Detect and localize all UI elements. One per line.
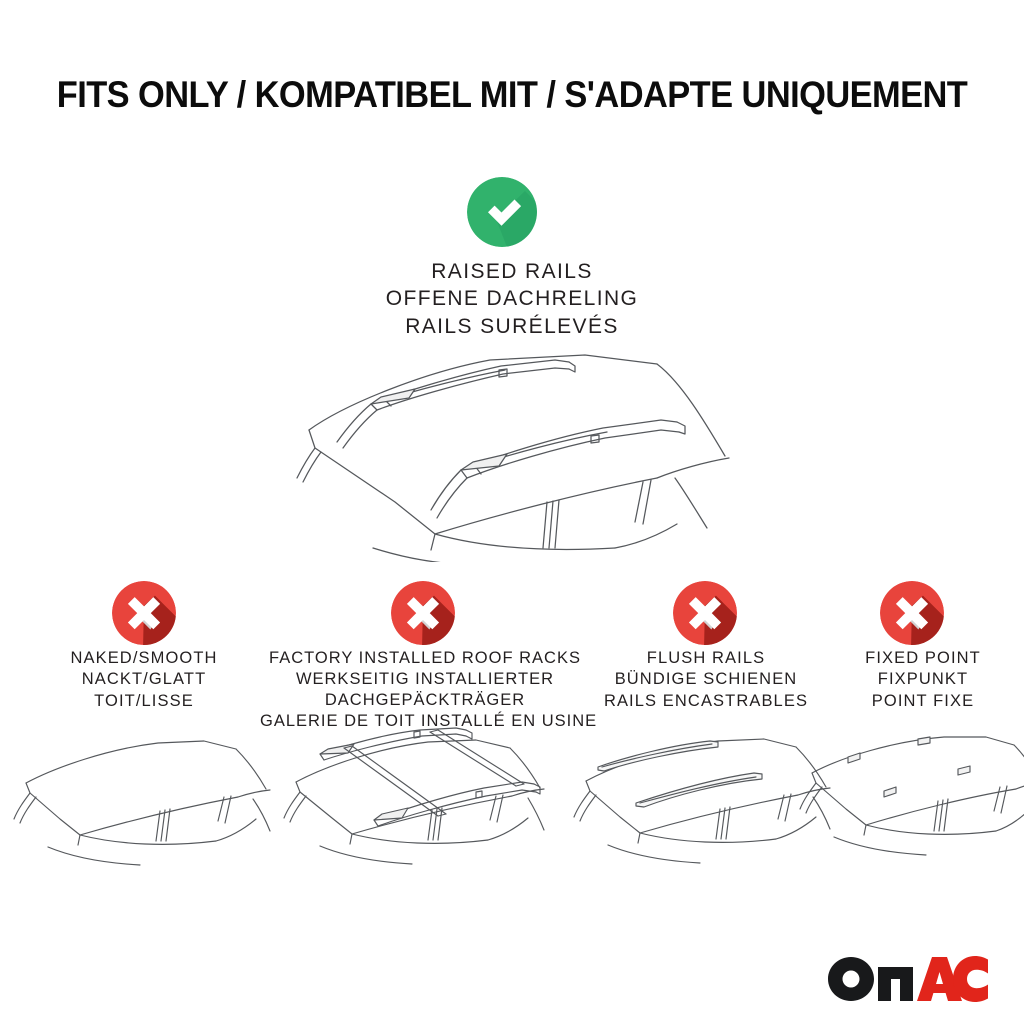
incompatible-label-3-line-2: BÜNDIGE SCHIENEN [586, 669, 826, 690]
incompatible-label-4-line-3: POINT FIXE [830, 691, 1016, 712]
page-title: FITS ONLY / KOMPATIBEL MIT / S'ADAPTE UN… [36, 74, 988, 116]
incompatible-label-1-line-1: NAKED/SMOOTH [24, 648, 264, 669]
incompatible-label-group-4: FIXED POINT FIXPUNKT POINT FIXE [830, 648, 1016, 712]
omac-logo [828, 956, 996, 1002]
car-roof-factory-installed-racks-illustration [278, 722, 570, 912]
incompatible-label-group-2: FACTORY INSTALLED ROOF RACKS WERKSEITIG … [260, 648, 590, 732]
incompatible-label-4-line-2: FIXPUNKT [830, 669, 1016, 690]
incompatible-label-1-line-3: TOIT/LISSE [24, 691, 264, 712]
check-circle-icon [467, 177, 537, 247]
incompatible-label-group-1: NAKED/SMOOTH NACKT/GLATT TOIT/LISSE [24, 648, 264, 712]
car-roof-with-raised-rails-illustration [285, 352, 735, 562]
cross-circle-icon [880, 581, 944, 645]
car-roof-raised-rails-drawing [285, 352, 735, 562]
cross-circle-glyph [391, 581, 455, 645]
car-roof-naked-smooth-drawing [8, 735, 276, 910]
car-roof-naked-smooth-illustration [8, 735, 276, 910]
incompatible-label-4-line-1: FIXED POINT [830, 648, 1016, 669]
car-roof-fixed-point-drawing [798, 733, 1024, 911]
incompatible-label-2-line-1: FACTORY INSTALLED ROOF RACKS [260, 648, 590, 669]
cross-circle-icon [391, 581, 455, 645]
compatible-label-group: RAISED RAILS OFFENE DACHRELING RAILS SUR… [0, 258, 1024, 340]
check-circle-glyph [467, 177, 537, 247]
incompatible-label-2-line-3: DACHGEPÄCKTRÄGER [260, 690, 590, 711]
cross-circle-glyph [112, 581, 176, 645]
cross-circle-glyph [673, 581, 737, 645]
incompatible-label-2-line-2: WERKSEITIG INSTALLIERTER [260, 669, 590, 690]
car-roof-fixed-point-illustration [798, 733, 1024, 911]
incompatible-label-group-3: FLUSH RAILS BÜNDIGE SCHIENEN RAILS ENCAS… [586, 648, 826, 712]
incompatible-label-1-line-2: NACKT/GLATT [24, 669, 264, 690]
incompatible-label-3-line-1: FLUSH RAILS [586, 648, 826, 669]
cross-circle-glyph [880, 581, 944, 645]
cross-circle-icon [673, 581, 737, 645]
omac-logo-mark [828, 956, 996, 1002]
incompatible-label-3-line-3: RAILS ENCASTRABLES [586, 691, 826, 712]
car-roof-factory-racks-drawing [278, 722, 570, 912]
compatible-label-line-1: RAISED RAILS [0, 258, 1024, 285]
compatible-label-line-2: OFFENE DACHRELING [0, 285, 1024, 312]
compatible-label-line-3: RAILS SURÉLEVÉS [0, 313, 1024, 340]
cross-circle-icon [112, 581, 176, 645]
